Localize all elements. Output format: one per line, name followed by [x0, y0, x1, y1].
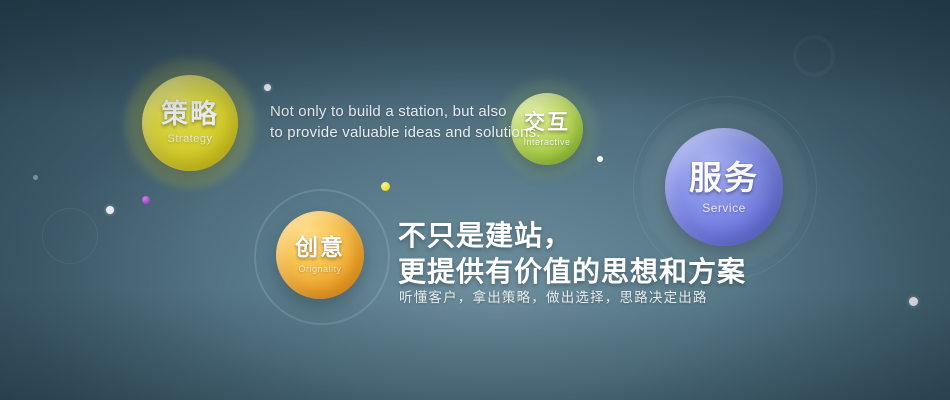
sphere-strategy-label-cn: 策略 — [161, 101, 219, 128]
decorative-dot-white-small-left — [33, 175, 38, 180]
decorative-dot-white-mid-left — [106, 206, 114, 214]
headline-line1: 不只是建站， — [398, 218, 746, 254]
decorative-dot-purple — [142, 196, 150, 204]
decorative-dot-white-near-strategy — [264, 84, 271, 91]
sphere-service-label-en: Service — [702, 202, 746, 214]
headline: 不只是建站， 更提供有价值的思想和方案 — [398, 218, 746, 290]
tagline-english-line1: Not only to build a station, but also — [270, 101, 541, 122]
decorative-ring-left — [42, 208, 98, 264]
sphere-strategy[interactable]: 策略 Strategy — [142, 75, 238, 171]
sphere-service-label-cn: 服务 — [689, 161, 759, 194]
decorative-dot-yellow — [381, 182, 390, 191]
decorative-dot-white-right — [909, 297, 918, 306]
sphere-strategy-label-en: Strategy — [168, 134, 213, 145]
decorative-ring-top-right — [793, 35, 835, 77]
hero-banner: 策略 Strategy 交互 Interactive 创意 Orignality… — [0, 0, 950, 400]
tagline-english: Not only to build a station, but also to… — [270, 101, 541, 143]
subheadline: 听懂客户，拿出策略，做出选择，思路决定出路 — [399, 288, 708, 308]
sphere-originality-label-cn: 创意 — [295, 236, 345, 259]
sphere-originality-label-en: Orignality — [298, 265, 341, 274]
tagline-english-line2: to provide valuable ideas and solutions. — [270, 122, 541, 143]
decorative-dot-white-near-interactive — [597, 156, 603, 162]
headline-line2: 更提供有价值的思想和方案 — [398, 254, 746, 290]
sphere-originality[interactable]: 创意 Orignality — [276, 211, 364, 299]
